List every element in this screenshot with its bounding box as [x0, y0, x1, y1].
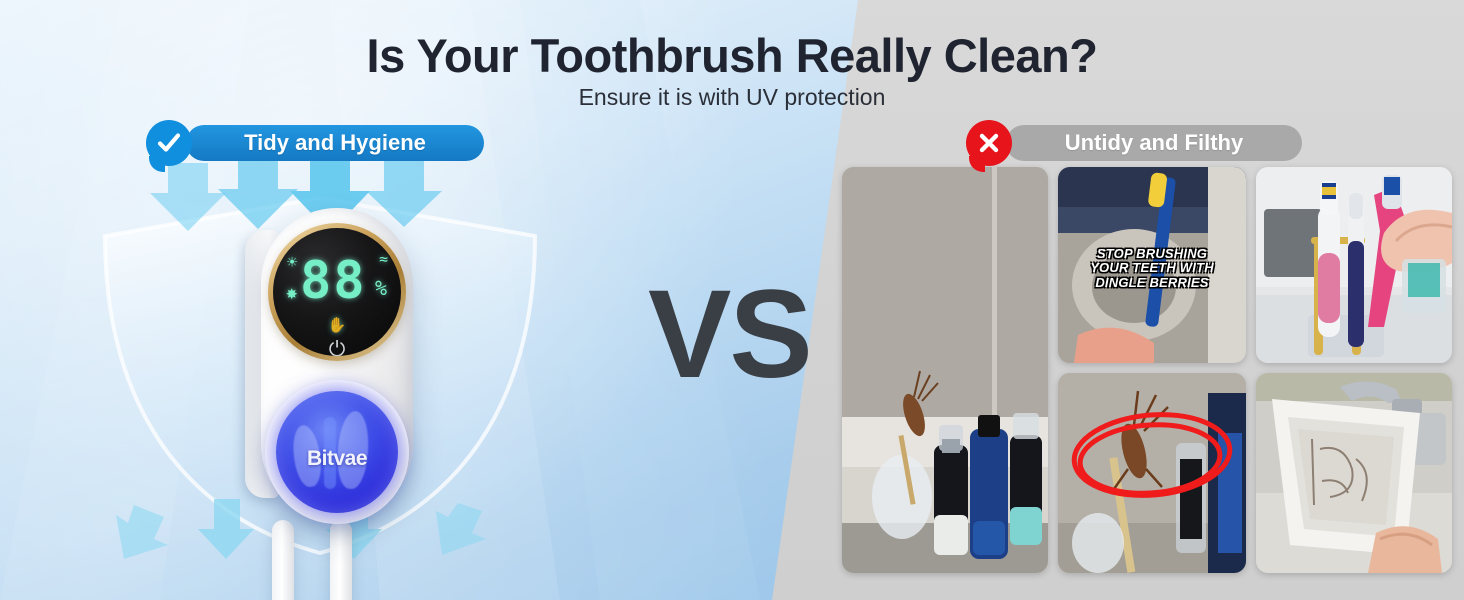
vs-label: VS	[648, 272, 811, 397]
badge-tidy-label: Tidy and Hygiene	[186, 125, 484, 161]
photo-art	[1256, 373, 1452, 573]
badge-untidy-filthy: Untidy and Filthy	[966, 120, 1302, 166]
display-value: 88	[300, 251, 367, 311]
photo-dirty-cup-faucet[interactable]	[1256, 373, 1452, 573]
uv-toothbrush-sterilizer: ☀ ✸ ≈ 88 % ✋ ⏻ Bitvae	[245, 208, 430, 538]
photo-insect-closeup-circled[interactable]	[1058, 373, 1246, 573]
check-mark-icon	[146, 120, 192, 166]
photo-toilet-toothbrush[interactable]: STOP BRUSHING YOUR TEETH WITH DINGLE BER…	[1058, 167, 1246, 363]
overlay-line-1: STOP BRUSHING	[1058, 247, 1246, 262]
uv-chamber: Bitvae	[276, 391, 398, 513]
overlay-line-3: DINGLE BERRIES	[1058, 276, 1246, 291]
sun-icon: ☀	[287, 253, 297, 273]
hand-sensor-icon: ✋	[273, 316, 401, 334]
photo-art	[842, 167, 1048, 573]
wave-bars-icon: ≈	[379, 250, 386, 268]
page-title: Is Your Toothbrush Really Clean?	[0, 30, 1464, 82]
display-unit: %	[375, 276, 387, 300]
photo-bathroom-counter-insect[interactable]	[842, 167, 1048, 573]
page-subtitle: Ensure it is with UV protection	[0, 84, 1464, 111]
badge-untidy-label: Untidy and Filthy	[1006, 125, 1302, 161]
infographic-canvas: Is Your Toothbrush Really Clean? Ensure …	[0, 0, 1464, 600]
overlay-line-2: YOUR TEETH WITH	[1058, 262, 1246, 277]
power-icon[interactable]: ⏻	[273, 338, 401, 356]
cross-glyph	[977, 131, 1001, 155]
display-gold-ring: ☀ ✸ ≈ 88 % ✋ ⏻	[268, 223, 406, 361]
photo-toothbrush-holder-hand[interactable]	[1256, 167, 1452, 363]
check-glyph	[156, 130, 182, 156]
brand-logo: Bitvae	[276, 447, 398, 471]
fan-icon: ✸	[286, 282, 297, 304]
photo-art	[1256, 167, 1452, 363]
cross-mark-icon	[966, 120, 1012, 166]
photo-art	[1058, 373, 1246, 573]
photo-overlay-caption: STOP BRUSHING YOUR TEETH WITH DINGLE BER…	[1058, 247, 1246, 291]
filthy-photo-grid: STOP BRUSHING YOUR TEETH WITH DINGLE BER…	[842, 167, 1452, 575]
badge-tidy-hygiene: Tidy and Hygiene	[146, 120, 484, 166]
device-display: ☀ ✸ ≈ 88 % ✋ ⏻	[273, 228, 401, 356]
uv-chamber-housing: Bitvae	[265, 380, 409, 524]
